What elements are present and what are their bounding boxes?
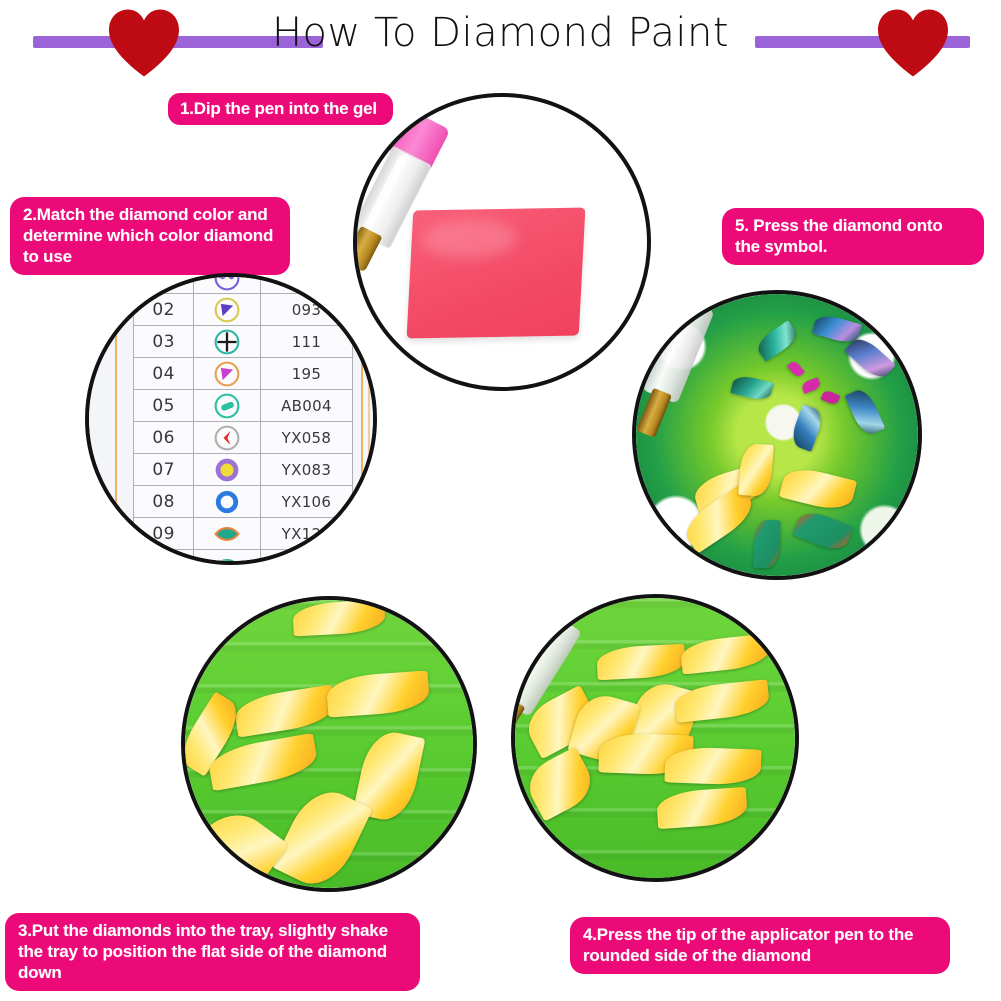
- plus-symbol: [213, 328, 241, 356]
- step-5-photo: [632, 290, 922, 580]
- chart-cell-symbol: [194, 518, 261, 550]
- leaf-symbol: [213, 552, 241, 562]
- chart-cell-number: 03: [134, 326, 194, 358]
- step-4-label: 4.Press the tip of the applicator pen to…: [570, 917, 950, 974]
- chart-cell-code: [260, 550, 352, 562]
- color-chart-row: 03111: [134, 326, 353, 358]
- step-2-label: 2.Match the diamond color and determine …: [10, 197, 290, 275]
- chart-cell-number: 06: [134, 422, 194, 454]
- step-2-photo: 02802093031110419505AB00406YX05807YX0830…: [85, 273, 377, 565]
- color-chart-row: 08YX106: [134, 486, 353, 518]
- chart-cell-code: YX083: [260, 454, 352, 486]
- infographic-root: How To Diamond Paint 1.Dip the pen into …: [0, 0, 1001, 1001]
- color-chart-row: 06YX058: [134, 422, 353, 454]
- step-1-label: 1.Dip the pen into the gel: [168, 93, 393, 125]
- double-dot-symbol: [213, 277, 241, 292]
- filled-circle-symbol: [213, 456, 241, 484]
- color-chart-row: 05AB004: [134, 390, 353, 422]
- chart-cell-number: 08: [134, 486, 194, 518]
- chart-cell-symbol: [194, 390, 261, 422]
- step-1-photo: [353, 93, 651, 391]
- step-3-label: 3.Put the diamonds into the tray, slight…: [5, 913, 420, 991]
- step-4-photo: [511, 594, 799, 882]
- triangle-symbol: [213, 360, 241, 388]
- leaf-symbol: [213, 520, 241, 548]
- color-chart-table: 02802093031110419505AB00406YX05807YX0830…: [133, 277, 353, 561]
- chart-cell-symbol: [194, 294, 261, 326]
- chart-cell-number: [134, 550, 194, 562]
- color-chart-row: 04195: [134, 358, 353, 390]
- color-chart-row: 07YX083: [134, 454, 353, 486]
- chart-cell-code: 111: [260, 326, 352, 358]
- chart-cell-symbol: [194, 326, 261, 358]
- step-3-photo: [181, 596, 477, 892]
- chart-cell-code: YX106: [260, 486, 352, 518]
- chart-cell-symbol: [194, 486, 261, 518]
- gel-pad: [407, 208, 586, 339]
- chart-cell-code: AB004: [260, 390, 352, 422]
- chart-cell-symbol: [194, 358, 261, 390]
- triangle-symbol: [213, 296, 241, 324]
- chart-cell-number: 09: [134, 518, 194, 550]
- chart-cell-code: 195: [260, 358, 352, 390]
- chart-cell-number: 04: [134, 358, 194, 390]
- chart-cell-code: YX125: [260, 518, 352, 550]
- chart-cell-symbol: [194, 550, 261, 562]
- chart-cell-code: 028: [260, 277, 352, 294]
- color-chart-row: 02093: [134, 294, 353, 326]
- ring-symbol: [213, 488, 241, 516]
- color-chart-row: 09YX125: [134, 518, 353, 550]
- chart-cell-number: 05: [134, 390, 194, 422]
- chart-cell-number: 02: [134, 294, 194, 326]
- chart-cell-code: 093: [260, 294, 352, 326]
- chart-cell-number: [134, 277, 194, 294]
- capsule-symbol: [213, 392, 241, 420]
- chart-cell-code: YX058: [260, 422, 352, 454]
- step-5-label: 5. Press the diamond onto the symbol.: [722, 208, 984, 265]
- color-chart-row: [134, 550, 353, 562]
- chart-cell-symbol: [194, 454, 261, 486]
- color-chart-row: 028: [134, 277, 353, 294]
- arrow-left-symbol: [213, 424, 241, 452]
- chart-cell-number: 07: [134, 454, 194, 486]
- page-title: How To Diamond Paint: [0, 7, 1001, 59]
- chart-cell-symbol: [194, 422, 261, 454]
- chart-cell-symbol: [194, 277, 261, 294]
